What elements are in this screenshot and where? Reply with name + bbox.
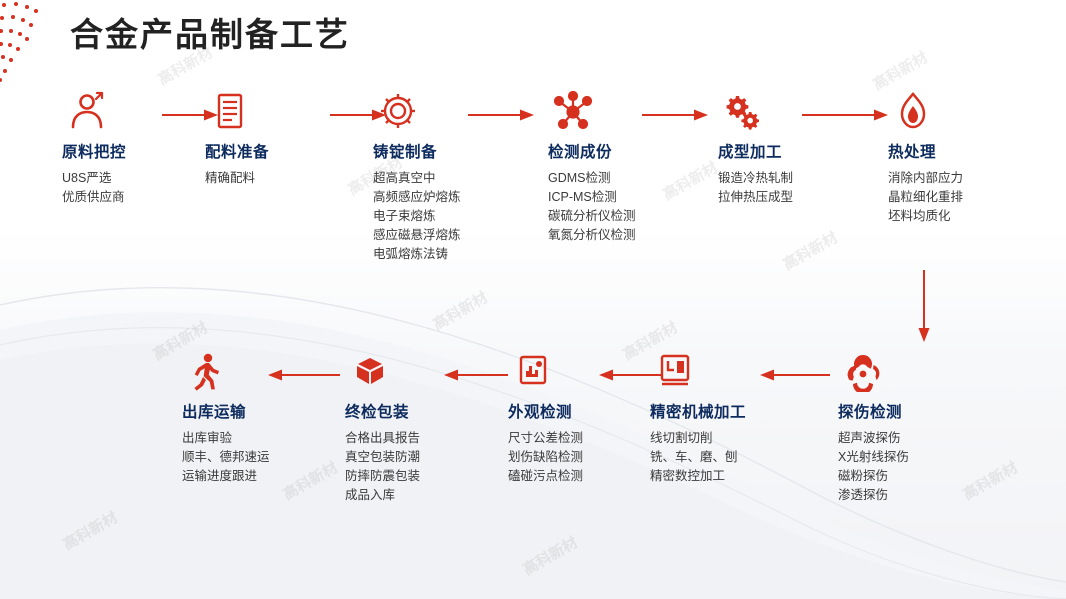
step-detail: 高频感应炉熔炼 (373, 188, 523, 207)
step-detail: 渗透探伤 (838, 486, 988, 505)
step-precision-machining[interactable]: 精密机械加工 线切割切削 铣、车、磨、刨 精密数控加工 (650, 348, 800, 486)
step-detail: 精密数控加工 (650, 467, 800, 486)
step-title: 铸锭制备 (373, 140, 523, 162)
step-title: 配料准备 (205, 140, 355, 162)
step-detail: 电弧熔炼法铸 (373, 245, 523, 264)
step-icon-wrapper (718, 88, 868, 134)
step-title: 精密机械加工 (650, 400, 800, 422)
step-detail: 消除内部应力 (888, 169, 1038, 188)
step-title: 成型加工 (718, 140, 868, 162)
step-icon-wrapper (345, 348, 495, 394)
flame-icon (892, 90, 934, 132)
step-detail: 顺丰、德邦速运 (182, 448, 332, 467)
step-detail: 线切割切削 (650, 429, 800, 448)
step-detail: 坯料均质化 (888, 207, 1038, 226)
step-detail-list: 线切割切削 铣、车、磨、刨 精密数控加工 (650, 429, 800, 486)
slide-canvas: 合金产品制备工艺 高科新材 高科新材 高科新材 高科新材 高科新材 高科新材 高… (0, 0, 1066, 599)
watermark: 高科新材 (429, 286, 491, 334)
watermark: 高科新材 (779, 226, 841, 274)
step-detail: 合格出具报告 (345, 429, 495, 448)
document-stack-icon (209, 90, 251, 132)
step-detail: 磕碰污点检测 (508, 467, 658, 486)
step-icon-wrapper (62, 88, 212, 134)
step-raw-material-control[interactable]: 原料把控 U8S严选 优质供应商 (62, 88, 212, 207)
step-ingot-casting[interactable]: 铸锭制备 超高真空中 高频感应炉熔炼 电子束熔炼 感应磁悬浮熔炼 电弧熔炼法铸 (373, 88, 523, 264)
watermark: 高科新材 (519, 531, 581, 579)
step-detail: 防摔防震包装 (345, 467, 495, 486)
step-detail-list: GDMS检测 ICP-MS检测 碳硫分析仪检测 氧氮分析仪检测 (548, 169, 698, 245)
step-detail: 运输进度跟进 (182, 467, 332, 486)
step-icon-wrapper (888, 88, 1038, 134)
step-detail-list: 消除内部应力 晶粒细化重排 坯料均质化 (888, 169, 1038, 226)
step-icon-wrapper (650, 348, 800, 394)
step-heat-treatment[interactable]: 热处理 消除内部应力 晶粒细化重排 坯料均质化 (888, 88, 1038, 226)
watermark: 高科新材 (59, 506, 121, 554)
step-detail: 尺寸公差检测 (508, 429, 658, 448)
step-icon-wrapper (373, 88, 523, 134)
step-title: 热处理 (888, 140, 1038, 162)
step-composition-testing[interactable]: 检测成份 GDMS检测 ICP-MS检测 碳硫分析仪检测 氧氮分析仪检测 (548, 88, 698, 245)
step-detail-list: 超声波探伤 X光射线探伤 磁粉探伤 渗透探伤 (838, 429, 988, 505)
gear-flower-icon (377, 90, 419, 132)
step-detail-list: 超高真空中 高频感应炉熔炼 电子束熔炼 感应磁悬浮熔炼 电弧熔炼法铸 (373, 169, 523, 264)
step-detail: U8S严选 (62, 169, 212, 188)
step-appearance-inspection[interactable]: 外观检测 尺寸公差检测 划伤缺陷检测 磕碰污点检测 (508, 348, 658, 486)
step-detail-list: 精确配料 (205, 169, 355, 188)
step-detail: 超高真空中 (373, 169, 523, 188)
step-detail: 铣、车、磨、刨 (650, 448, 800, 467)
step-flaw-detection[interactable]: 探伤检测 超声波探伤 X光射线探伤 磁粉探伤 渗透探伤 (838, 348, 988, 505)
step-detail: 划伤缺陷检测 (508, 448, 658, 467)
step-title: 探伤检测 (838, 400, 988, 422)
step-detail: 碳硫分析仪检测 (548, 207, 698, 226)
step-title: 终检包装 (345, 400, 495, 422)
arrow-heat-to-flaw (912, 268, 936, 344)
step-icon-wrapper (508, 348, 658, 394)
step-detail: 超声波探伤 (838, 429, 988, 448)
step-detail-list: 出库审验 顺丰、德邦速运 运输进度跟进 (182, 429, 332, 486)
atom-triangle-icon (842, 350, 884, 392)
step-detail: X光射线探伤 (838, 448, 988, 467)
step-icon-wrapper (182, 348, 332, 394)
step-outbound-transport[interactable]: 出库运输 出库审验 顺丰、德邦速运 运输进度跟进 (182, 348, 332, 486)
open-box-icon (349, 350, 391, 392)
step-detail: ICP-MS检测 (548, 188, 698, 207)
molecule-icon (552, 90, 594, 132)
inspect-box-icon (512, 350, 554, 392)
step-detail: 真空包装防潮 (345, 448, 495, 467)
step-icon-wrapper (205, 88, 355, 134)
step-title: 检测成份 (548, 140, 698, 162)
step-detail: 精确配料 (205, 169, 355, 188)
step-detail: 拉伸热压成型 (718, 188, 868, 207)
step-title: 外观检测 (508, 400, 658, 422)
page-title: 合金产品制备工艺 (70, 8, 350, 56)
step-detail-list: 合格出具报告 真空包装防潮 防摔防震包装 成品入库 (345, 429, 495, 505)
walking-person-icon (186, 350, 228, 392)
step-detail: 出库审验 (182, 429, 332, 448)
step-icon-wrapper (838, 348, 988, 394)
step-detail: 磁粉探伤 (838, 467, 988, 486)
step-final-inspection-packaging[interactable]: 终检包装 合格出具报告 真空包装防潮 防摔防震包装 成品入库 (345, 348, 495, 505)
step-detail: 成品入库 (345, 486, 495, 505)
step-batching-preparation[interactable]: 配料准备 精确配料 (205, 88, 355, 188)
step-detail: 锻造冷热轧制 (718, 169, 868, 188)
step-detail: GDMS检测 (548, 169, 698, 188)
step-forming-processing[interactable]: 成型加工 锻造冷热轧制 拉伸热压成型 (718, 88, 868, 207)
step-title: 出库运输 (182, 400, 332, 422)
gears-icon (722, 90, 764, 132)
step-detail: 氧氮分析仪检测 (548, 226, 698, 245)
step-title: 原料把控 (62, 140, 212, 162)
step-icon-wrapper (548, 88, 698, 134)
step-detail: 电子束熔炼 (373, 207, 523, 226)
step-detail-list: 锻造冷热轧制 拉伸热压成型 (718, 169, 868, 207)
cnc-machine-icon (654, 350, 696, 392)
step-detail: 感应磁悬浮熔炼 (373, 226, 523, 245)
person-icon (66, 90, 108, 132)
step-detail-list: U8S严选 优质供应商 (62, 169, 212, 207)
step-detail-list: 尺寸公差检测 划伤缺陷检测 磕碰污点检测 (508, 429, 658, 486)
step-detail: 优质供应商 (62, 188, 212, 207)
step-detail: 晶粒细化重排 (888, 188, 1038, 207)
